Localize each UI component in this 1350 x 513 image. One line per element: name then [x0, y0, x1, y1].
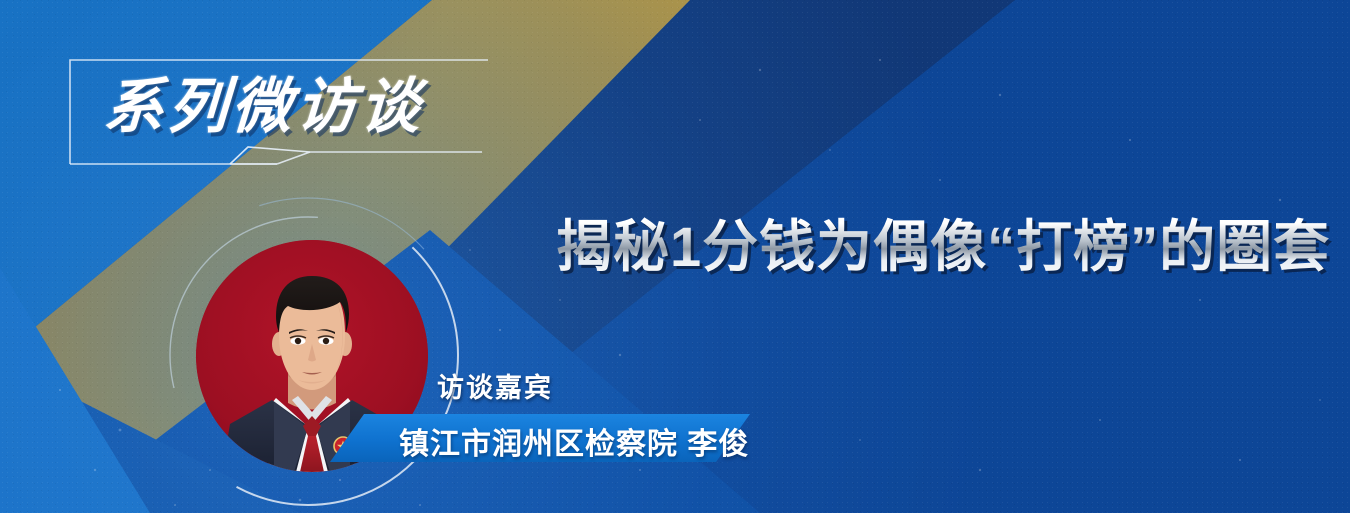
series-title: 系列微访谈 [102, 58, 427, 145]
guest-label: 访谈嘉宾 [437, 366, 553, 405]
guest-name-text: 镇江市润州区检察院 李俊 [399, 419, 749, 463]
page-title: 揭秘1分钱为偶像“打榜”的圈套 [556, 202, 1330, 283]
interview-banner: 系列微访谈 揭秘1分钱为偶像“打榜”的圈套 访谈嘉宾 镇江市润州区检察院 李俊 [0, 0, 1350, 513]
